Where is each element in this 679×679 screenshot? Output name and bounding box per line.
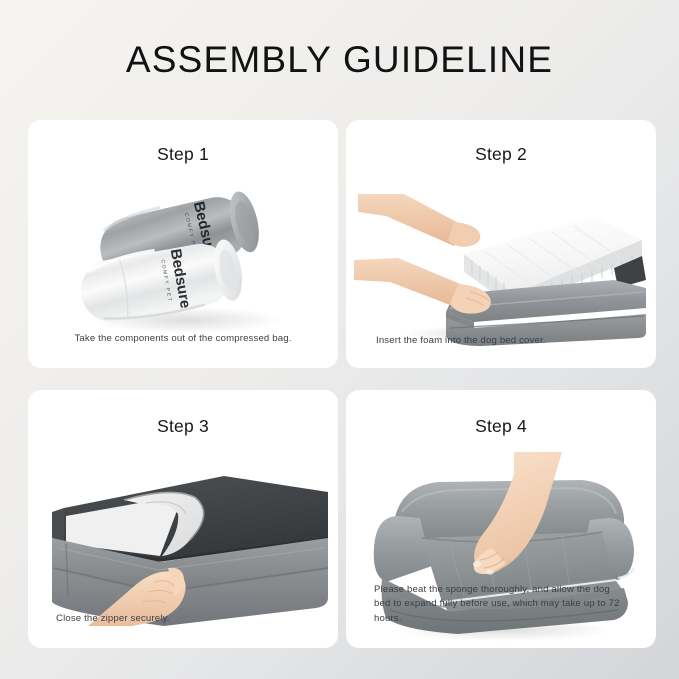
steps-grid: Step 1 [28, 120, 656, 648]
step-4-caption: Please beat the sponge thoroughly, and a… [374, 583, 628, 626]
step-3-caption: Close the zipper securely. [56, 612, 316, 626]
step-1-title: Step 1 [28, 144, 338, 165]
step-card-3[interactable]: Step 3 [28, 390, 338, 648]
step-3-illustration [28, 456, 338, 626]
step-card-4[interactable]: Step 4 [346, 390, 656, 648]
step-3-title: Step 3 [28, 416, 338, 437]
step-1-caption: Take the components out of the compresse… [50, 332, 316, 346]
step-card-1[interactable]: Step 1 [28, 120, 338, 368]
step-4-title: Step 4 [346, 416, 656, 437]
step-2-illustration [346, 176, 656, 346]
step-2-title: Step 2 [346, 144, 656, 165]
step-1-illustration: Bedsure COMFY PET Bedsure COMFY PET [28, 178, 338, 338]
step-2-caption: Insert the foam into the dog bed cover. [376, 334, 634, 348]
step-card-2[interactable]: Step 2 [346, 120, 656, 368]
page-title: ASSEMBLY GUIDELINE [0, 40, 679, 81]
